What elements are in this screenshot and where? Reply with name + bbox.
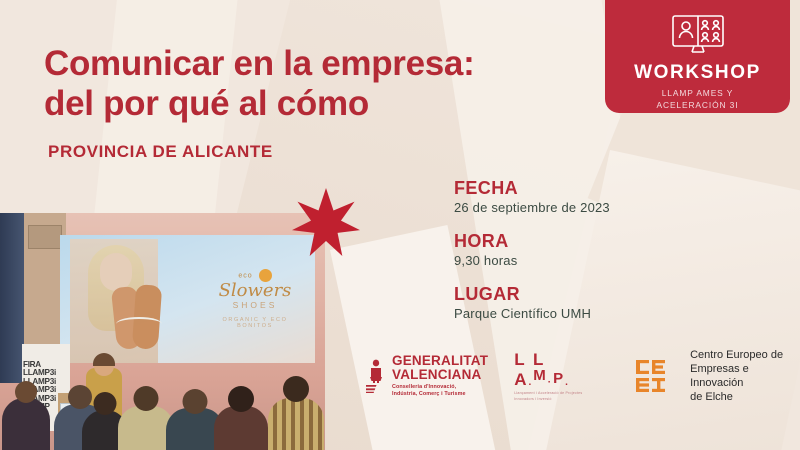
generalitat-crest-icon — [366, 359, 386, 393]
photo-audience-member — [214, 406, 268, 450]
generalitat-text-block: GENERALITAT VALENCIANA Conselleria d'Inn… — [392, 354, 488, 398]
ceei-text-block: Centro Europeo de Empresas e Innovación … — [690, 348, 800, 404]
photo-air-conditioner — [28, 225, 62, 249]
photo-slide-brand-logo: eco Slowers SHOES ORGANIC Y ECO BONITOS — [210, 269, 300, 329]
slide-brand-eco-text: eco — [238, 272, 252, 279]
photo-audience-member — [268, 398, 324, 450]
badge-subtitle-line-1: LLAMP AMES Y — [657, 87, 739, 99]
workshop-badge: WORKSHOP LLAMP AMES Y ACELERACIÓN 3I — [605, 0, 790, 113]
generalitat-valenciana-logo: GENERALITAT VALENCIANA Conselleria d'Inn… — [366, 354, 488, 398]
generalitat-sub-line-1: Conselleria d'Innovació, — [392, 384, 488, 391]
generalitat-line-1: GENERALITAT — [392, 354, 488, 368]
photo-audience-member — [2, 398, 50, 450]
audience-head — [283, 376, 309, 402]
page-title: Comunicar en la empresa: del por qué al … — [44, 44, 524, 123]
photo-presentation-screen: eco Slowers SHOES ORGANIC Y ECO BONITOS — [60, 235, 315, 363]
poster-canvas: Comunicar en la empresa: del por qué al … — [0, 0, 800, 450]
detail-label-hora: HORA — [454, 231, 714, 252]
audience-head — [68, 385, 92, 409]
audience-head — [228, 386, 254, 412]
audience-head — [15, 381, 37, 403]
sponsor-logo-row: GENERALITAT VALENCIANA Conselleria d'Inn… — [366, 348, 800, 404]
photo-curtain — [0, 213, 24, 383]
ceei-line-2: Empresas e Innovación — [690, 362, 800, 390]
seven-point-star-icon — [292, 186, 360, 258]
slide-brand-main: Slowers — [210, 282, 300, 300]
generalitat-sub-line-2: Indústria, Comerç i Turisme — [392, 391, 488, 398]
photo-slide-model — [70, 239, 158, 363]
detail-value-fecha: 26 de septiembre de 2023 — [454, 200, 714, 215]
slide-brand-sub: SHOES — [210, 300, 300, 310]
page-subtitle: PROVINCIA DE ALICANTE — [48, 142, 273, 162]
video-conference-monitor-icon — [666, 14, 730, 58]
detail-label-fecha: FECHA — [454, 178, 714, 199]
badge-subtitle: LLAMP AMES Y ACELERACIÓN 3I — [657, 87, 739, 111]
detail-value-hora: 9,30 horas — [454, 253, 714, 268]
headline-line-2: del por qué al cómo — [44, 84, 524, 124]
llamp-wordmark: L L A.M·P. — [514, 350, 604, 390]
audience-head — [94, 392, 117, 415]
llamp-sub-line-2: Innovadors i Inversió — [514, 397, 604, 402]
badge-subtitle-line-2: ACELERACIÓN 3I — [657, 99, 739, 111]
generalitat-line-2: VALENCIANA — [392, 368, 488, 382]
ceei-logo: Centro Europeo de Empresas e Innovación … — [636, 348, 800, 404]
ceei-mark-icon — [636, 358, 680, 394]
llamp-sub-line-1: Llançament i Acceleració de Projectes — [514, 391, 604, 396]
audience-head — [134, 386, 159, 411]
badge-title: WORKSHOP — [634, 62, 761, 84]
event-photo: eco Slowers SHOES ORGANIC Y ECO BONITOS … — [0, 213, 325, 450]
photo-slide-shoe-lace — [116, 317, 162, 331]
event-details: FECHA 26 de septiembre de 2023 HORA 9,30… — [454, 178, 714, 321]
ceei-line-1: Centro Europeo de — [690, 348, 800, 362]
detail-label-lugar: LUGAR — [454, 284, 714, 305]
headline-line-1: Comunicar en la empresa: — [44, 44, 524, 84]
detail-value-lugar: Parque Científico UMH — [454, 306, 714, 321]
llamp-logo: L L A.M·P. Llançament i Acceleració de P… — [514, 350, 604, 403]
audience-head — [183, 389, 208, 414]
slide-brand-tagline: ORGANIC Y ECO BONITOS — [210, 317, 300, 329]
ceei-line-3: de Elche — [690, 390, 800, 404]
photo-slide-model-face — [100, 253, 132, 291]
